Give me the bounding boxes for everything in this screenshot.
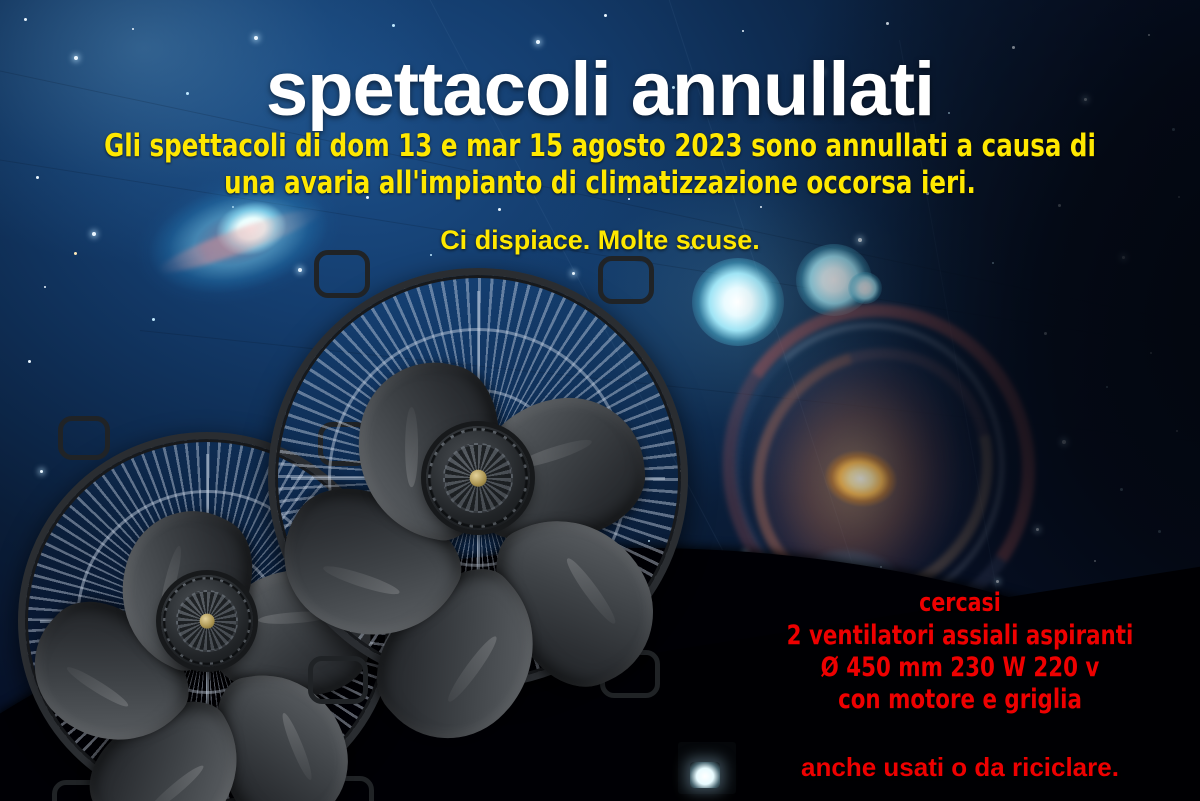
fan-mount-tab	[58, 416, 110, 460]
fan-mount-tab	[314, 250, 370, 298]
fan-mount-tab	[308, 656, 368, 704]
fan-mount-tab	[598, 256, 654, 304]
wanted-heading: cercasi	[784, 588, 1136, 618]
page-title: spettacoli annullati	[0, 46, 1200, 133]
fan-hub	[426, 426, 530, 530]
stage-light-icon	[690, 762, 720, 788]
wanted-line-5: anche usati o da riciclare.	[740, 752, 1180, 783]
wanted-line-2: 2 ventilatori assiali aspiranti	[766, 620, 1153, 651]
fan-hub	[161, 575, 253, 667]
notice-line-2: una avaria all'impianto di climatizzazio…	[72, 165, 1128, 201]
fan-primary	[268, 268, 688, 688]
notice-line-1: Gli spettacoli di dom 13 e mar 15 agosto…	[72, 128, 1128, 164]
poster: spettacoli annullati Gli spettacoli di d…	[0, 0, 1200, 801]
wanted-line-4: con motore e griglia	[766, 684, 1153, 715]
notice-apology: Ci dispiace. Molte scuse.	[0, 225, 1200, 256]
wanted-line-3: Ø 450 mm 230 W 220 v	[766, 652, 1153, 683]
